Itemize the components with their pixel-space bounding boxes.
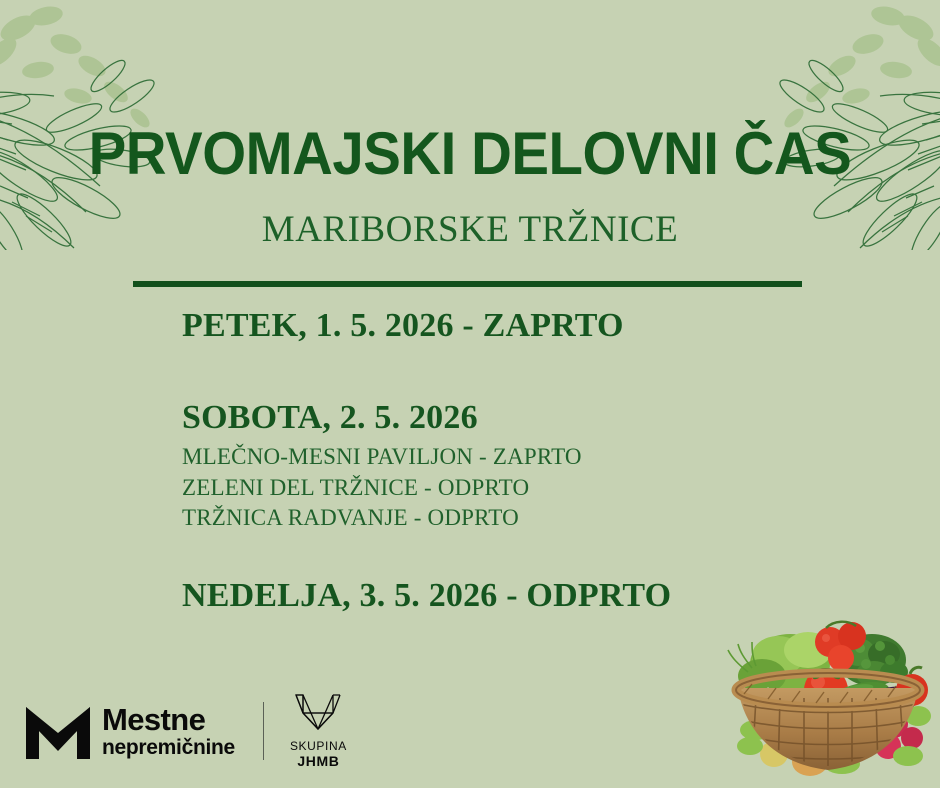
skupina-jhmb-text: SKUPINA JHMB bbox=[290, 739, 347, 770]
schedule-saturday-line-3: TRŽNICA RADVANJE - ODPRTO bbox=[182, 503, 882, 534]
spacer-friday-saturday bbox=[182, 346, 882, 398]
schedule-saturday-details: MLEČNO-MESNI PAVILJON - ZAPRTO ZELENI DE… bbox=[182, 442, 882, 534]
page-title: PRVOMAJSKI DELOVNI ČAS bbox=[28, 122, 912, 187]
schedule-saturday-heading: SOBOTA, 2. 5. 2026 bbox=[182, 398, 882, 438]
title-divider-rule bbox=[133, 281, 802, 287]
mestne-wordmark-line-1: Mestne bbox=[102, 704, 235, 735]
jhmb-angular-mark-icon bbox=[292, 693, 344, 733]
schedule-list: PETEK, 1. 5. 2026 - ZAPRTO SOBOTA, 2. 5.… bbox=[182, 306, 882, 616]
mestne-wordmark-line-2: nepremičnine bbox=[102, 737, 235, 758]
jhmb-text-line-2: JHMB bbox=[290, 753, 347, 770]
mestne-nepremicnine-m-mark-icon bbox=[26, 703, 90, 759]
schedule-saturday-line-2: ZELENI DEL TRŽNICE - ODPRTO bbox=[182, 473, 882, 504]
footer-logo-divider bbox=[263, 702, 264, 760]
page-subtitle: MARIBORSKE TRŽNICE bbox=[0, 208, 940, 251]
schedule-friday-heading: PETEK, 1. 5. 2026 - ZAPRTO bbox=[182, 306, 882, 346]
jhmb-text-line-1: SKUPINA bbox=[290, 739, 347, 753]
schedule-saturday-line-1: MLEČNO-MESNI PAVILJON - ZAPRTO bbox=[182, 442, 882, 473]
skupina-jhmb-logo: SKUPINA JHMB bbox=[290, 693, 347, 770]
poster-canvas: PRVOMAJSKI DELOVNI ČAS MARIBORSKE TRŽNIC… bbox=[0, 0, 940, 788]
spacer-saturday-sunday bbox=[182, 534, 882, 576]
mestne-nepremicnine-wordmark: Mestne nepremičnine bbox=[102, 704, 235, 758]
vegetable-basket-illustration bbox=[722, 598, 934, 778]
footer-logos: Mestne nepremičnine SKUPINA JHMB bbox=[26, 698, 347, 764]
